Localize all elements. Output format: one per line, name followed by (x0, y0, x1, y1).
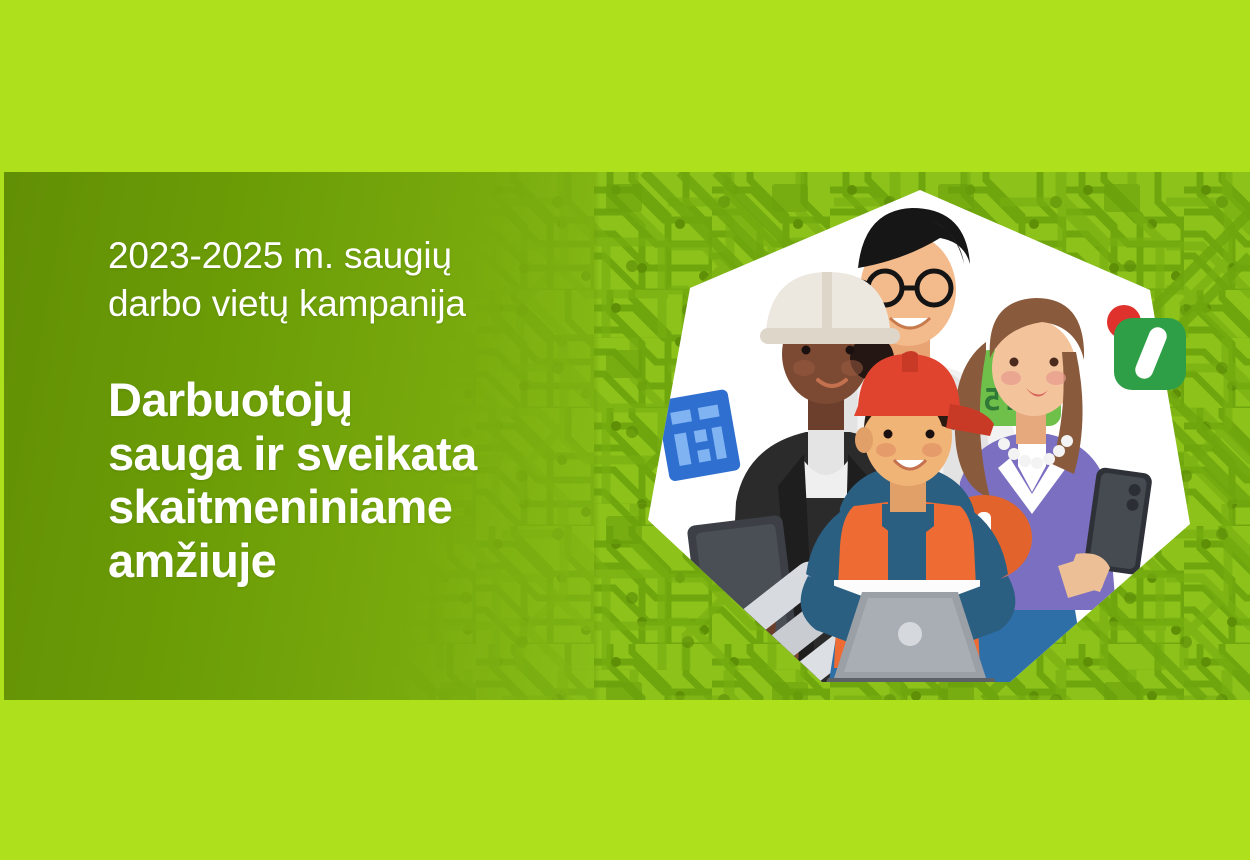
microchip-blue (656, 389, 741, 482)
campaign-subtitle: 2023-2025 m. saugių darbo vietų kampanij… (108, 232, 608, 328)
headline-line-4: amžiuje (108, 534, 608, 588)
campaign-headline: Darbuotojų sauga ir sveikata skaitmenini… (108, 373, 608, 587)
subtitle-line-1: 2023-2025 m. saugių (108, 232, 608, 280)
subtitle-line-2: darbo vietų kampanija (108, 280, 608, 328)
headline-line-2: sauga ir sveikata (108, 427, 608, 481)
headline-line-3: skaitmeniniame (108, 480, 608, 534)
banner-page: 36.5 (0, 0, 1250, 860)
headline-line-1: Darbuotojų (108, 373, 608, 427)
banner-copy: 2023-2025 m. saugių darbo vietų kampanij… (108, 232, 608, 588)
campaign-banner: 36.5 (4, 172, 1250, 700)
heptagon-workers-illustration: 36.5 (590, 172, 1250, 700)
